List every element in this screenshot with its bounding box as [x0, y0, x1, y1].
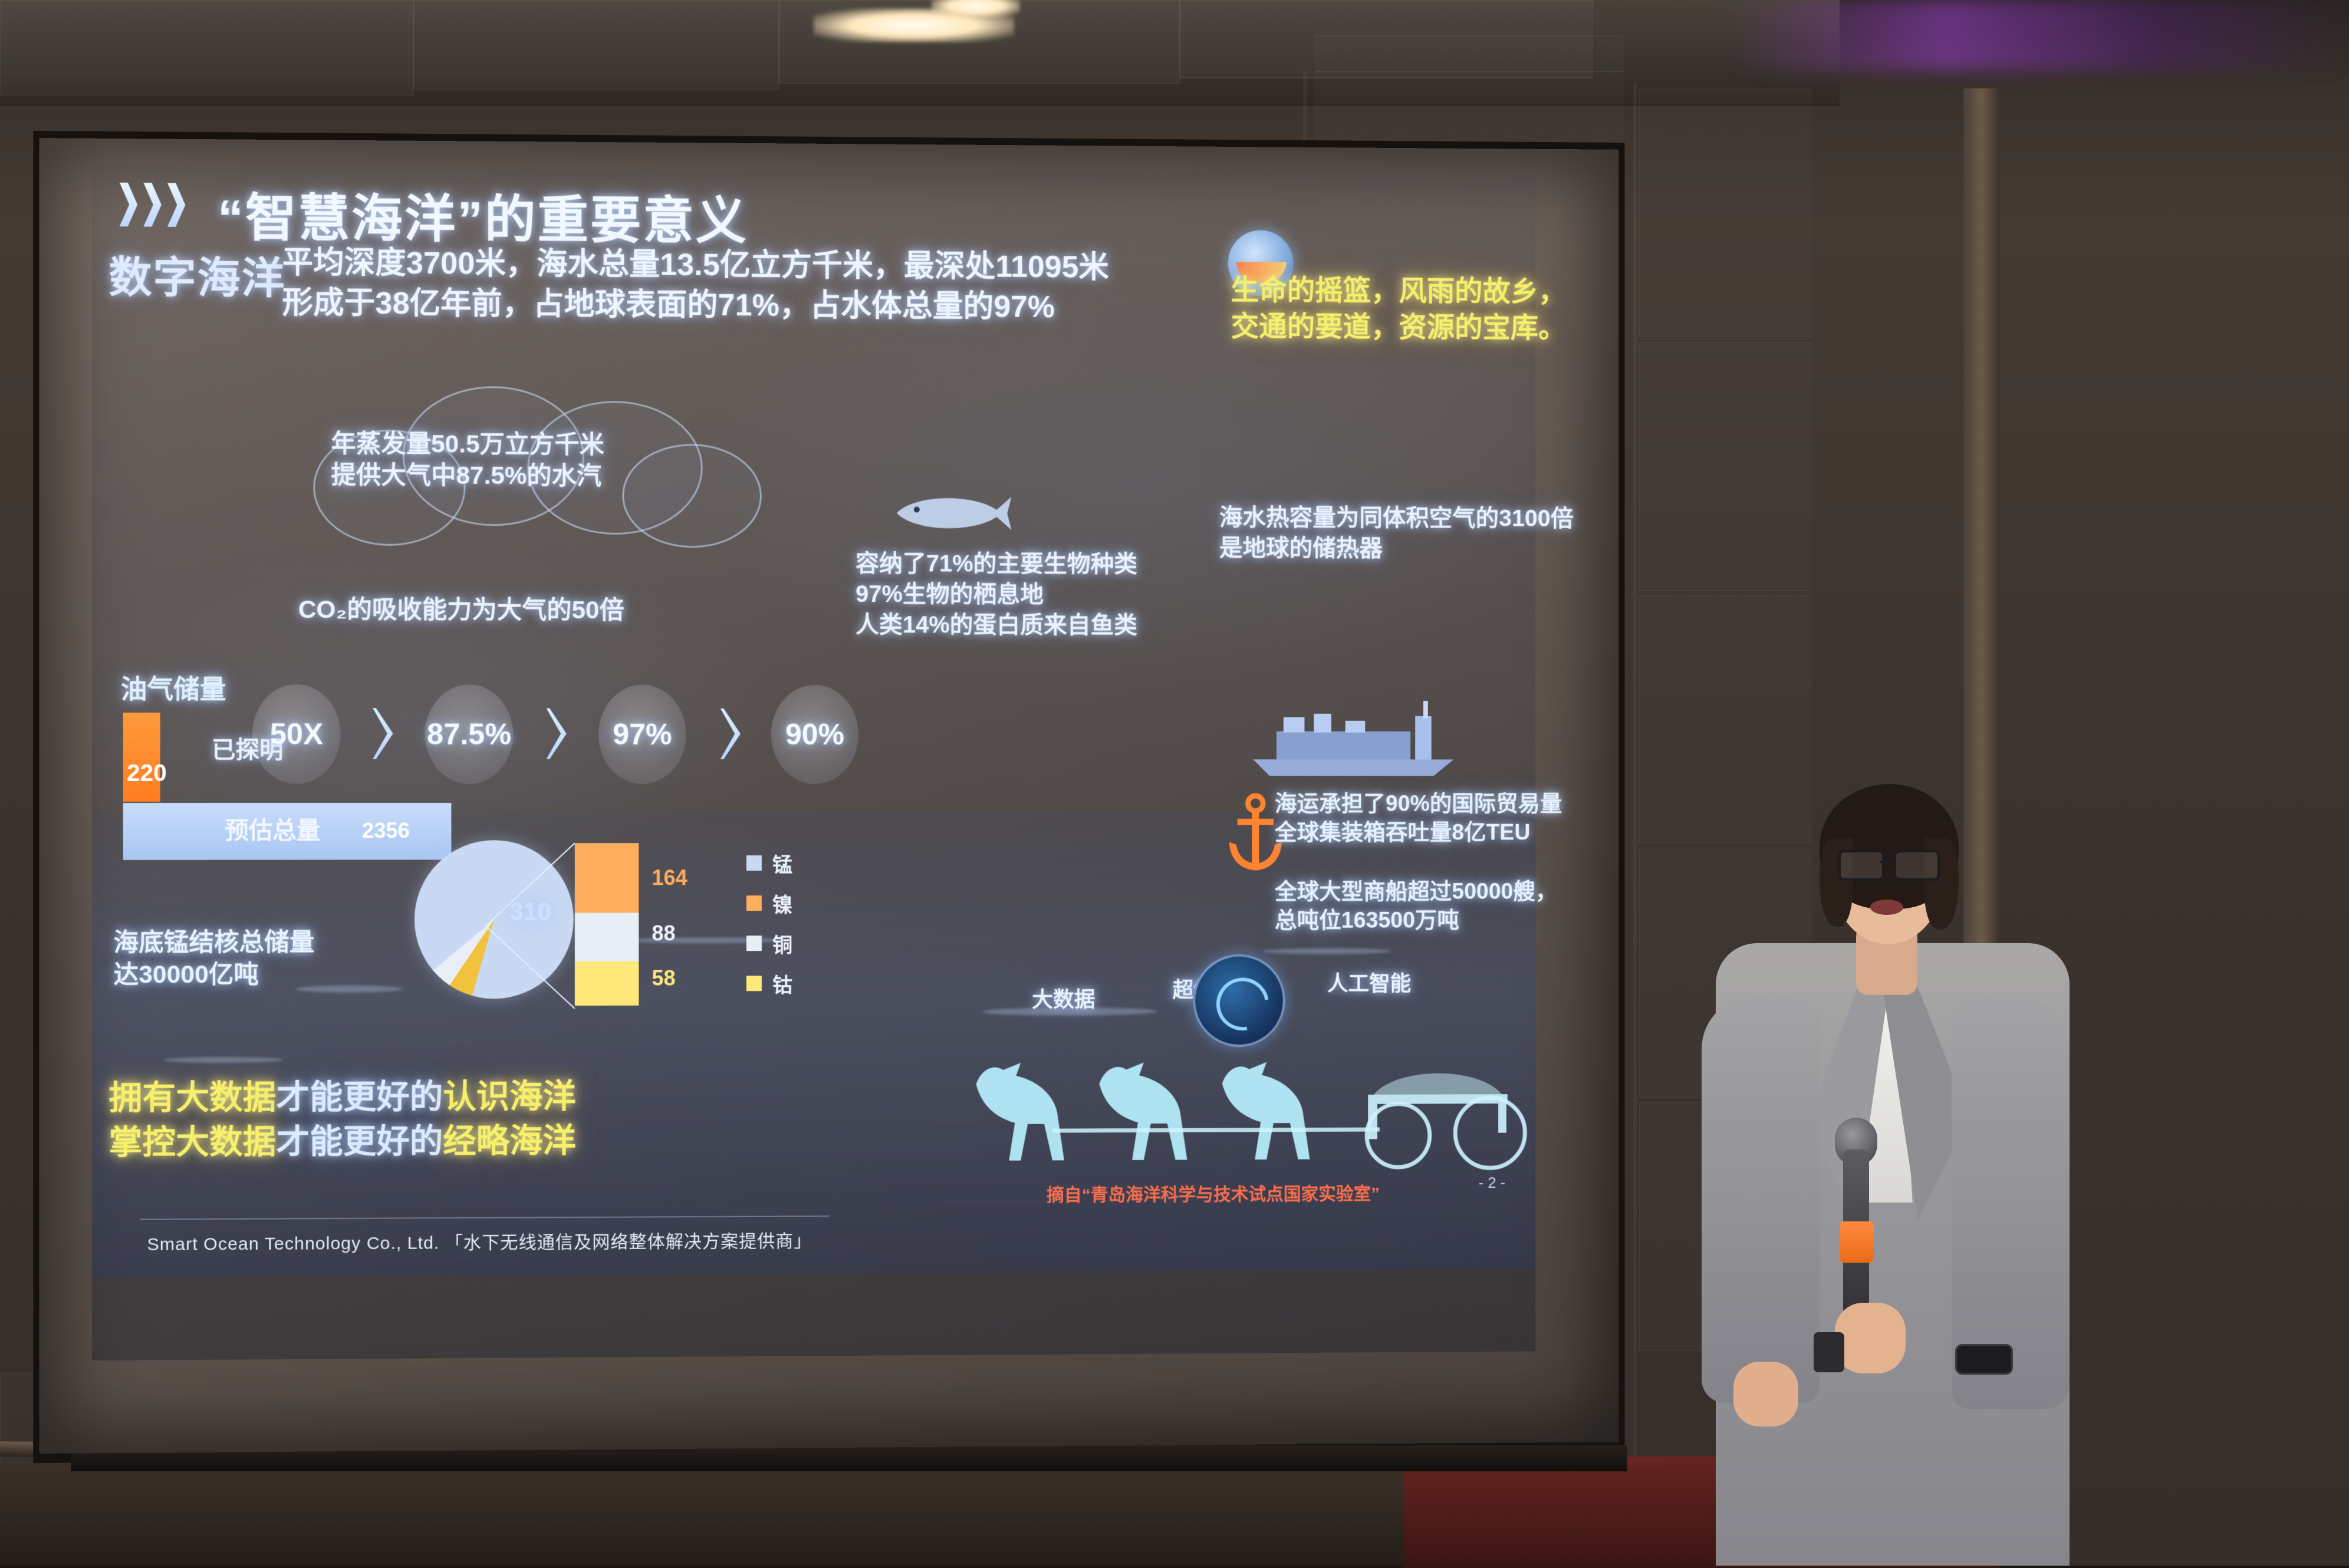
slogan-2-yellow-1: 掌控大数据	[108, 1123, 276, 1161]
ship2-line-1: 全球大型商船超过50000艘，	[1275, 878, 1619, 907]
legend-swatch-manganese	[746, 855, 762, 871]
fish-line-2: 97%生物的栖息地	[856, 579, 1219, 610]
legend-label-cobalt: 钴	[772, 969, 792, 998]
oil-gas-chart-title: 油气储量	[121, 668, 226, 706]
metric-circle-1: 87.5%	[425, 684, 513, 784]
cloud-text: 年蒸发量50.5万立方千米 提供大气中87.5%的水汽	[331, 428, 710, 492]
nodule-stacked-bar	[575, 843, 639, 1006]
metric-circle-2: 97%	[598, 684, 686, 783]
presenter-arm-left	[1702, 996, 1820, 1403]
heat-line-2: 是地球的储热器	[1219, 533, 1603, 564]
slogan-1-white: 才能更好的	[276, 1078, 443, 1115]
ceiling-panel	[413, 0, 779, 90]
yellow-line-1: 生命的摇篮，风雨的故乡，	[1231, 272, 1592, 311]
stack-segment-copper	[575, 913, 639, 961]
lead-paragraph: 平均深度3700米，海水总量13.5亿立方千米，最深处11095米 形成于38亿…	[282, 243, 1180, 328]
wall-panel	[1639, 342, 1811, 591]
ship-line-2: 全球集装箱吞吐量8亿TEU	[1275, 818, 1619, 847]
co2-text: CO₂的吸收能力为大气的50倍	[298, 589, 624, 626]
stack-value-1: 88	[652, 921, 675, 946]
legend-item: 镍	[746, 883, 900, 923]
ship2-line-2: 总吨位163500万吨	[1275, 906, 1619, 935]
cloud-line-1: 年蒸发量50.5万立方千米	[331, 428, 710, 461]
legend-swatch-cobalt	[746, 976, 762, 991]
stack-value-2: 58	[652, 966, 675, 991]
legend-swatch-copper	[746, 935, 762, 951]
slogan-2-white: 才能更好的	[276, 1122, 443, 1159]
cargo-ship-icon	[1248, 690, 1458, 778]
slogan-block: 拥有大数据才能更好的认识海洋 掌控大数据才能更好的经略海洋	[108, 1073, 575, 1164]
stack-segment-nickel	[575, 843, 639, 913]
stack-value-0: 164	[652, 865, 687, 890]
wall-seam	[1633, 83, 1637, 1485]
slogan-line-2: 掌控大数据才能更好的经略海洋	[108, 1118, 575, 1165]
yellow-line-2: 交通的要道，资源的宝库。	[1231, 309, 1592, 347]
microphone-orange-band	[1840, 1221, 1874, 1263]
manganese-line-2: 达30000亿吨	[114, 958, 424, 990]
ceiling-light	[932, 0, 1020, 18]
wall-panel	[1639, 88, 1811, 337]
ceiling-panel	[0, 0, 414, 95]
legend-swatch-nickel	[746, 895, 762, 911]
heat-capacity-text: 海水热容量为同体积空气的3100倍 是地球的储热器	[1219, 502, 1603, 564]
slogan-2-yellow-2: 经略海洋	[443, 1122, 576, 1159]
legend-label-nickel: 镍	[772, 889, 792, 918]
metric-circle-0: 50X	[252, 684, 341, 784]
bar-estimated-label: 预估总量	[225, 811, 320, 845]
footer-text: Smart Ocean Technology Co., Ltd. 「水下无线通信…	[147, 1226, 812, 1256]
ambient-light-glow	[1728, 0, 2349, 71]
legend-item: 铜	[746, 923, 900, 963]
lead-line-2: 形成于38亿年前，占地球表面的71%，占水体总量的97%	[282, 283, 1180, 328]
bar-proven-value: 220	[127, 760, 167, 787]
page-title: “智慧海洋”的重要意义	[218, 176, 748, 253]
legend-label-manganese: 锰	[772, 849, 792, 878]
projection-screen: “智慧海洋”的重要意义 数字海洋 平均深度3700米，海水总量13.5亿立方千米…	[39, 138, 1618, 1454]
wall-panel	[1315, 35, 1623, 72]
shipping-text: 海运承担了90%的国际贸易量 全球集装箱吞吐量8亿TEU	[1275, 790, 1619, 847]
slogan-1-yellow-2: 认识海洋	[443, 1077, 576, 1115]
presenter-remote-clicker	[1814, 1332, 1844, 1372]
horse-label-2: 人工智能	[1327, 967, 1411, 997]
manganese-text: 海底锰结核总储量 达30000亿吨	[114, 926, 424, 990]
fish-icon	[891, 489, 1014, 536]
eyeglasses-icon	[1838, 850, 1940, 876]
fish-line-1: 容纳了71%的主要生物种类	[856, 548, 1219, 579]
bar-estimated-value: 2356	[362, 818, 410, 843]
marine-life-text: 容纳了71%的主要生物种类 97%生物的栖息地 人类14%的蛋白质来自鱼类	[856, 548, 1219, 641]
heat-line-1: 海水热容量为同体积空气的3100倍	[1219, 502, 1603, 534]
manganese-line-1: 海底锰结核总储量	[114, 926, 424, 958]
horse-label-0: 大数据	[1032, 983, 1095, 1013]
presentation-slide: “智慧海洋”的重要意义 数字海洋 平均深度3700米，海水总量13.5亿立方千米…	[92, 166, 1535, 1361]
legend-item: 钴	[746, 963, 900, 1004]
national-lab-emblem-icon	[1193, 954, 1285, 1047]
nodule-legend: 锰 镍 铜 钴	[746, 843, 900, 1003]
pie-callout-value: 310	[509, 898, 551, 926]
presenter-hand-right	[1835, 1303, 1906, 1373]
citation-text: 摘自“青岛海洋科学与技术试点国家实验室”	[1047, 1179, 1380, 1206]
ship-line-1: 海运承担了90%的国际贸易量	[1275, 790, 1619, 818]
slogan-line-1: 拥有大数据才能更好的认识海洋	[108, 1073, 575, 1119]
presenter-mouth	[1870, 900, 1903, 915]
chevron-right-icon	[120, 183, 186, 227]
section-label: 数字海洋	[108, 242, 285, 305]
presenter	[1698, 784, 2075, 1566]
wristwatch-icon	[1955, 1344, 2013, 1375]
room-scene: “智慧海洋”的重要意义 数字海洋 平均深度3700米，海水总量13.5亿立方千米…	[0, 0, 2349, 1566]
slogan-1-yellow-1: 拥有大数据	[108, 1078, 276, 1116]
fish-line-3: 人类14%的蛋白质来自鱼类	[856, 610, 1219, 641]
shipping-text-2: 全球大型商船超过50000艘， 总吨位163500万吨	[1275, 878, 1619, 935]
legend-label-copper: 铜	[772, 929, 792, 958]
bar-proven	[123, 713, 160, 802]
page-number: - 2 -	[1479, 1174, 1506, 1192]
legend-item: 锰	[746, 843, 900, 883]
lead-line-1: 平均深度3700米，海水总量13.5亿立方千米，最深处11095米	[282, 243, 1180, 288]
metric-circle-3: 90%	[771, 685, 858, 784]
yellow-highlight-block: 生命的摇篮，风雨的故乡， 交通的要道，资源的宝库。	[1231, 272, 1592, 347]
cloud-line-2: 提供大气中87.5%的水汽	[331, 460, 710, 492]
presenter-hand-left	[1733, 1362, 1798, 1427]
stack-segment-cobalt	[575, 961, 639, 1006]
